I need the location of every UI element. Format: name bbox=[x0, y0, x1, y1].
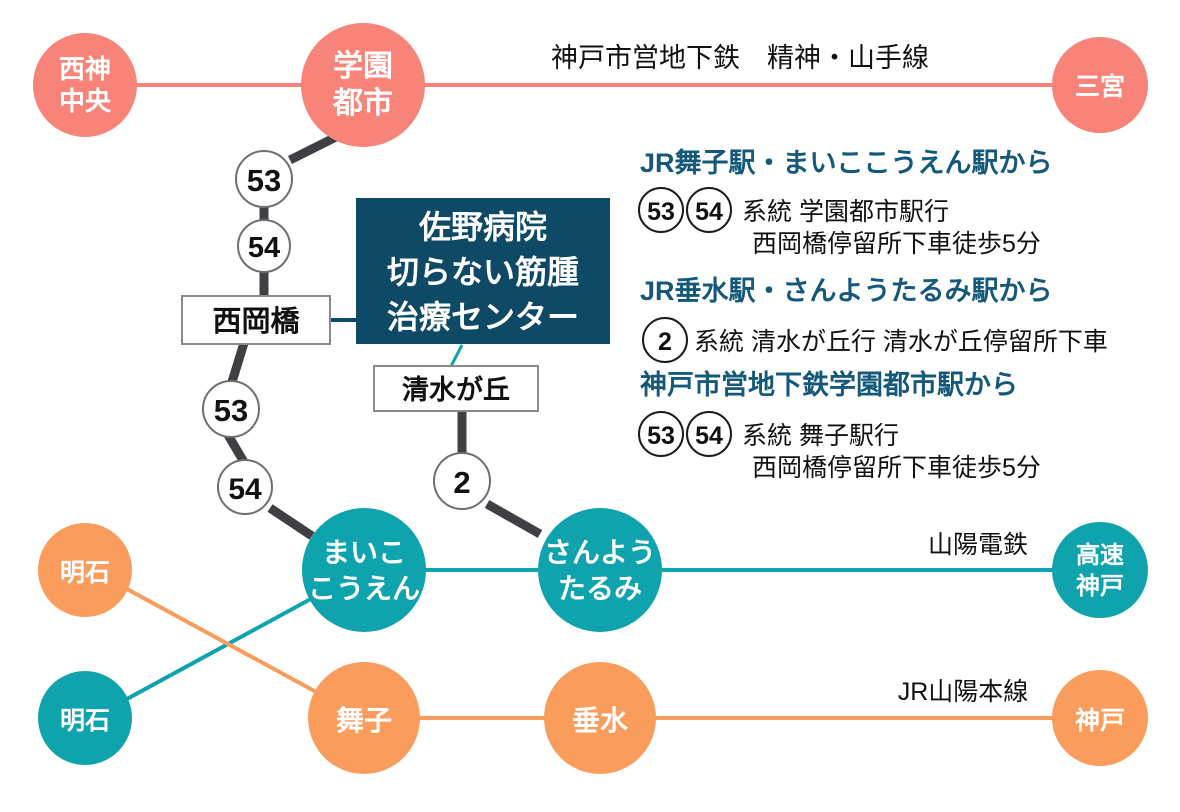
badge-number: 53 bbox=[214, 393, 248, 428]
station-label-line2: たるみ bbox=[558, 573, 642, 604]
station-label-line1: さんよう bbox=[544, 537, 656, 568]
route-badge-2: 2 bbox=[643, 318, 687, 362]
section-detail-line2: 西岡橋停留所下車徒歩5分 bbox=[752, 454, 1041, 482]
bus-line-2-to-sanyo-tarumi bbox=[487, 504, 540, 534]
section-heading: JR舞子駅・まいここうえん駅から bbox=[640, 148, 1053, 178]
station-label-line1: 西神 bbox=[59, 54, 111, 84]
station-label-line2: 中央 bbox=[59, 86, 112, 116]
bus-line-53-to-54-lower bbox=[228, 435, 244, 462]
section-detail-line2: 西岡橋停留所下車徒歩5分 bbox=[752, 230, 1041, 258]
station-circle[interactable] bbox=[1052, 522, 1148, 618]
station-sanyo-tarumi[interactable]: さんよう たるみ bbox=[538, 508, 662, 632]
bus-badge-54-lower[interactable]: 54 bbox=[218, 460, 272, 514]
section-detail-line1: 系統 学園都市駅行 bbox=[742, 198, 949, 226]
jr-line-label: JR山陽本線 bbox=[898, 678, 1029, 706]
access-panel: JR舞子駅・まいここうえん駅から 53 54 系統 学園都市駅行 西岡橋停留所下… bbox=[639, 148, 1108, 482]
station-akashi-sanyo[interactable]: 明石 bbox=[38, 671, 132, 765]
hospital-box[interactable]: 佐野病院 切らない筋腫 治療センター bbox=[356, 198, 610, 344]
station-label-line1: 学園 bbox=[333, 49, 393, 83]
station-label-line1: 三宮 bbox=[1075, 72, 1125, 101]
station-nishi-shin-chuo[interactable]: 西神 中央 bbox=[33, 33, 137, 137]
station-circle[interactable] bbox=[301, 23, 425, 147]
bus-line-nishiokabashi-to-53 bbox=[232, 343, 244, 382]
route-badge-53: 53 bbox=[639, 188, 683, 232]
access-section-from-subway-gakuen-toshi: 神戸市営地下鉄学園都市駅から 53 54 系統 舞子駅行 西岡橋停留所下車徒歩5… bbox=[639, 369, 1041, 482]
bus-stop-nishiokabashi[interactable]: 西岡橋 bbox=[182, 296, 330, 344]
badge-number: 53 bbox=[647, 198, 675, 226]
badge-number: 54 bbox=[695, 422, 723, 450]
access-section-from-jr-maiko: JR舞子駅・まいここうえん駅から 53 54 系統 学園都市駅行 西岡橋停留所下… bbox=[639, 148, 1053, 258]
sanyo-line-label: 山陽電鉄 bbox=[928, 531, 1028, 559]
subway-line-label: 神戸市営地下鉄 精神・山手線 bbox=[551, 43, 929, 73]
badge-number: 2 bbox=[453, 465, 470, 500]
station-circle[interactable] bbox=[33, 33, 137, 137]
bus-stop-shimizugaoka[interactable]: 清水が丘 bbox=[374, 366, 538, 411]
bus-badge-53-upper[interactable]: 53 bbox=[236, 151, 292, 207]
station-kosoku-kobe[interactable]: 高速 神戸 bbox=[1052, 522, 1148, 618]
route-badge-53: 53 bbox=[639, 412, 683, 456]
badge-number: 2 bbox=[658, 328, 672, 356]
route-badge-54: 54 bbox=[687, 412, 731, 456]
station-label-line2: 神戸 bbox=[1076, 573, 1124, 600]
station-kobe[interactable]: 神戸 bbox=[1052, 670, 1148, 766]
station-label-line1: 神戸 bbox=[1075, 707, 1125, 735]
badge-number: 53 bbox=[247, 163, 281, 198]
badge-number: 54 bbox=[695, 198, 723, 226]
bus-stop-label: 清水が丘 bbox=[402, 374, 510, 405]
bus-line-54-to-maiko-koen bbox=[270, 508, 312, 536]
bus-stop-label: 西岡橋 bbox=[212, 305, 300, 338]
access-map-diagram: 西神 中央 学園 都市 三宮 神戸市営地下鉄 精神・山手線 53 54 53 bbox=[0, 0, 1180, 812]
station-label-line1: 明石 bbox=[60, 559, 110, 587]
access-section-from-jr-tarumi: JR垂水駅・さんようたるみ駅から 2 系統 清水が丘行 清水が丘停留所下車 bbox=[640, 276, 1108, 362]
station-tarumi[interactable]: 垂水 bbox=[544, 662, 656, 774]
section-heading: 神戸市営地下鉄学園都市駅から bbox=[640, 369, 1018, 400]
station-label-line2: 都市 bbox=[332, 86, 393, 120]
route-badge-54: 54 bbox=[687, 188, 731, 232]
badge-number: 54 bbox=[228, 473, 262, 506]
bus-badge-54-upper[interactable]: 54 bbox=[238, 220, 290, 272]
station-label-line2: こうえん bbox=[308, 573, 420, 604]
hospital-name-line1: 佐野病院 bbox=[418, 209, 547, 245]
station-sannomiya[interactable]: 三宮 bbox=[1052, 37, 1148, 133]
station-label-line1: まいこ bbox=[322, 537, 406, 568]
station-circle[interactable] bbox=[538, 508, 662, 632]
bus-badge-2[interactable]: 2 bbox=[434, 453, 490, 509]
station-gakuen-toshi[interactable]: 学園 都市 bbox=[301, 23, 425, 147]
transit-map-svg: 西神 中央 学園 都市 三宮 神戸市営地下鉄 精神・山手線 53 54 53 bbox=[0, 0, 1180, 812]
section-detail-line1: 系統 清水が丘行 清水が丘停留所下車 bbox=[694, 328, 1108, 356]
station-maiko[interactable]: 舞子 bbox=[308, 662, 420, 774]
section-heading: JR垂水駅・さんようたるみ駅から bbox=[640, 276, 1053, 306]
badge-number: 54 bbox=[248, 232, 280, 264]
station-label-line1: 舞子 bbox=[336, 705, 392, 736]
station-circle[interactable] bbox=[302, 508, 426, 632]
station-label-line1: 明石 bbox=[60, 707, 110, 735]
section-detail-line1: 系統 舞子駅行 bbox=[742, 422, 899, 450]
hospital-name-line2: 切らない筋腫 bbox=[387, 254, 579, 290]
station-akashi-jr[interactable]: 明石 bbox=[38, 523, 132, 617]
station-label-line1: 垂水 bbox=[572, 705, 629, 736]
badge-number: 53 bbox=[647, 422, 675, 450]
station-maiko-koen[interactable]: まいこ こうえん bbox=[302, 508, 426, 632]
station-label-line1: 高速 bbox=[1076, 541, 1124, 569]
hospital-name-line3: 治療センター bbox=[387, 299, 579, 335]
bus-badge-53-lower[interactable]: 53 bbox=[203, 381, 259, 437]
